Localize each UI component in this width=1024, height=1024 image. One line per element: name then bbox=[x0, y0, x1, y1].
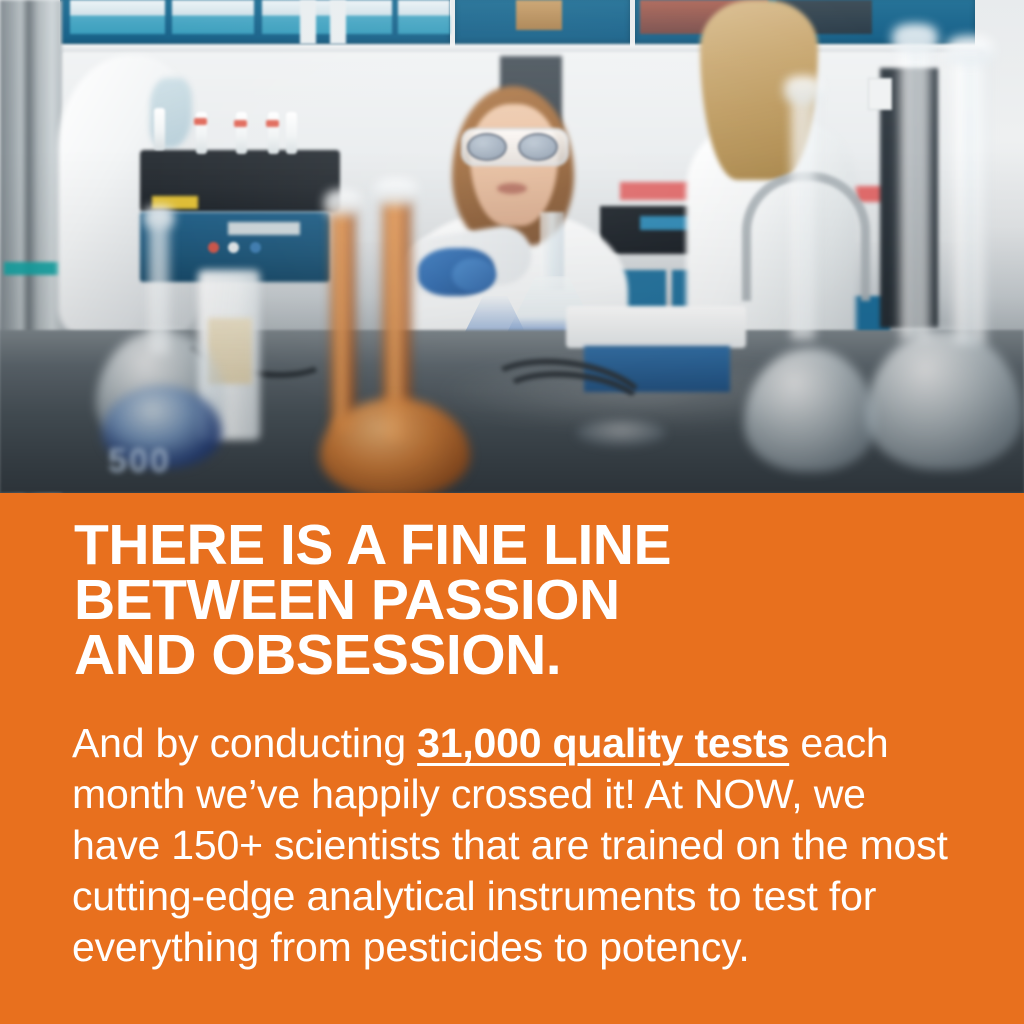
cabinet-glass-pane-1 bbox=[70, 0, 165, 34]
analyser-knob-blue bbox=[250, 242, 261, 253]
body-copy-segment-1: And by conducting bbox=[72, 720, 417, 766]
lab-photograph: 500 bbox=[0, 0, 1024, 493]
page-headline: THERE IS A FINE LINE BETWEEN PASSION AND… bbox=[74, 518, 974, 683]
clear-flask-neck-1 bbox=[898, 40, 932, 340]
scientist-center-mouth bbox=[497, 183, 527, 194]
goggles-lens-left bbox=[467, 133, 507, 161]
cabinet-glass-pane-3 bbox=[262, 0, 392, 34]
rack-vial-cap-2 bbox=[234, 120, 247, 127]
clear-flask-neck-2 bbox=[952, 54, 988, 344]
blue-glove-fingers bbox=[452, 258, 496, 292]
cabinet-divider-2 bbox=[330, 0, 346, 44]
analyser-display bbox=[228, 222, 300, 235]
clear-flask-stopper-3 bbox=[784, 76, 822, 102]
cabinet-divider-1 bbox=[300, 0, 316, 44]
teal-marker-tab bbox=[4, 262, 60, 275]
rack-vial-cap-1 bbox=[194, 118, 207, 125]
rack-vial-cap-3 bbox=[266, 120, 279, 127]
amber-flask-stopper-2 bbox=[374, 178, 418, 206]
analyser-knob-red bbox=[208, 242, 219, 253]
analyser-knob-white bbox=[228, 242, 239, 253]
petri-dish bbox=[576, 420, 666, 446]
cabinet-glass-pane-4 bbox=[398, 0, 450, 34]
amber-flask-stopper-1 bbox=[324, 190, 362, 216]
rack-vial-4 bbox=[268, 112, 279, 154]
clear-flask-stopper-2 bbox=[946, 36, 994, 64]
flask-500-stopper bbox=[144, 206, 174, 228]
rack-vial-3 bbox=[236, 112, 247, 154]
cabinet-glass-pane-2 bbox=[172, 0, 254, 34]
rack-vial-1 bbox=[154, 108, 165, 150]
clear-flask-stopper-1 bbox=[892, 24, 938, 52]
body-copy-emphasis-stat: 31,000 quality tests bbox=[417, 720, 789, 766]
cabinet-box-cardboard bbox=[516, 0, 562, 30]
flask-volume-label: 500 bbox=[108, 442, 171, 481]
rack-vial-5 bbox=[286, 112, 297, 154]
laboratory-balance bbox=[566, 306, 746, 348]
goggles-lens-right bbox=[518, 133, 558, 161]
body-copy: And by conducting 31,000 quality tests e… bbox=[72, 718, 952, 973]
clear-flask-neck-3 bbox=[790, 92, 816, 340]
amber-flask-neck-1 bbox=[330, 206, 356, 432]
social-graphic-canvas: 500 THERE IS A FINE LINE BETWEEN PASSION… bbox=[0, 0, 1024, 1024]
wall-socket bbox=[868, 78, 892, 110]
orange-message-panel: THERE IS A FINE LINE BETWEEN PASSION AND… bbox=[0, 493, 1024, 1024]
